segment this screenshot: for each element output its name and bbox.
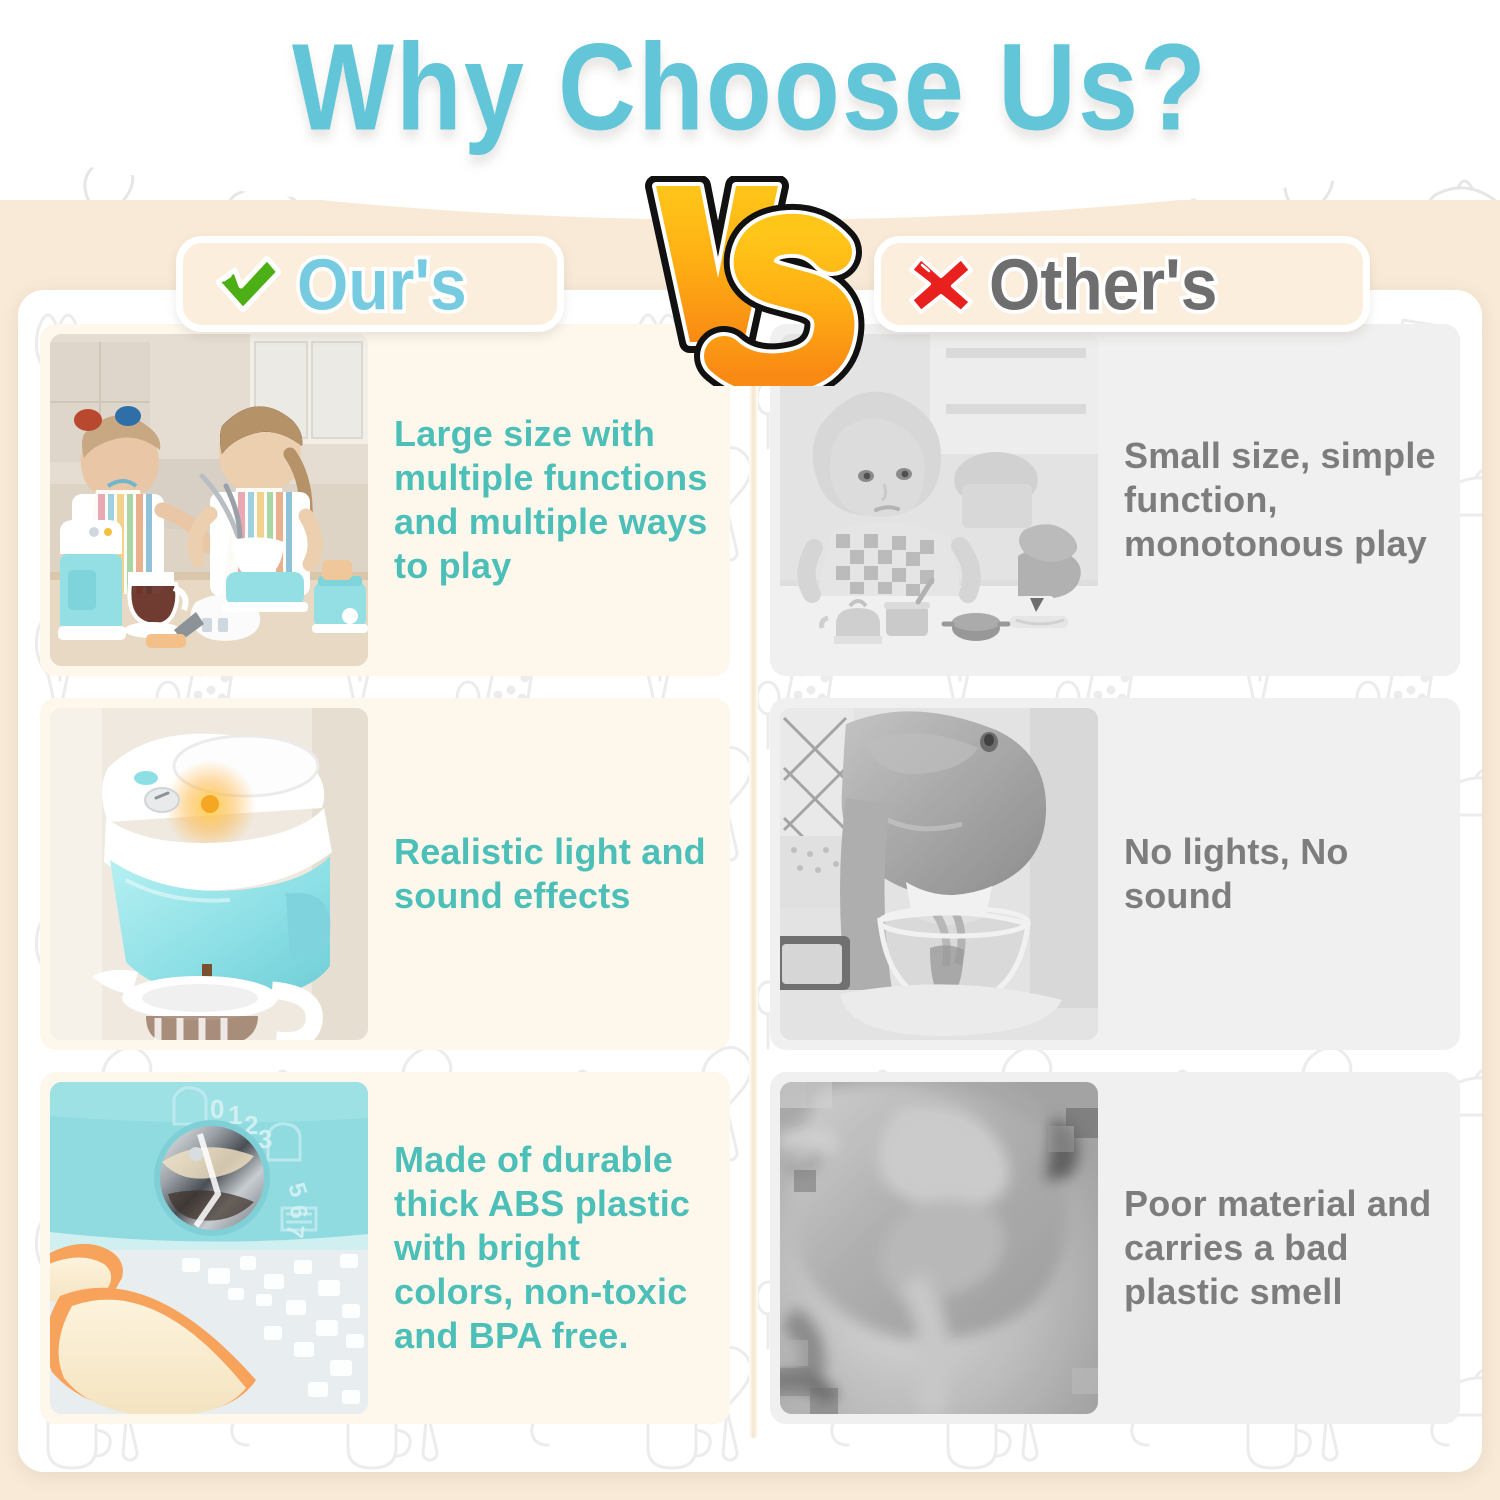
- others-badge-label: Other's: [989, 248, 1217, 321]
- others-column: Small size, simple function, monotonous …: [770, 324, 1460, 1446]
- teal-coffee-maker-toy-with-light-photo: [50, 708, 368, 1040]
- ours-column: Large size with multiple functions and m…: [40, 324, 730, 1446]
- green-check-icon: [209, 252, 283, 316]
- others-row-2-text: No lights, No sound: [1098, 698, 1460, 1050]
- column-divider: [749, 324, 758, 1438]
- ours-row-1: Large size with multiple functions and m…: [40, 324, 730, 676]
- others-header-badge: Other's: [874, 236, 1370, 332]
- ours-badge-label: Our's: [297, 248, 467, 321]
- toaster-dial-closeup-with-toast-photo: 0 1 2 3 5 6 7: [50, 1082, 368, 1414]
- svg-text:0: 0: [210, 1094, 224, 1124]
- vs-versus-icon: [640, 176, 870, 386]
- comparison-panel: Large size with multiple functions and m…: [18, 290, 1482, 1472]
- others-row-1-text: Small size, simple function, monotonous …: [1098, 324, 1460, 676]
- two-girls-playing-kitchen-toys-photo: [50, 334, 368, 666]
- blurry-gray-plastic-photo: [780, 1082, 1098, 1414]
- title-container: Why Choose Us?: [0, 24, 1500, 149]
- gray-mixer-toy-photo: [780, 708, 1098, 1040]
- svg-text:7: 7: [281, 1223, 309, 1239]
- ours-row-3: 0 1 2 3 5 6 7: [40, 1072, 730, 1424]
- page-title: Why Choose Us?: [292, 15, 1208, 158]
- others-row-3: Poor material and carries a bad plastic …: [770, 1072, 1460, 1424]
- ours-row-3-text: Made of durable thick ABS plastic with b…: [368, 1072, 730, 1424]
- others-row-3-text: Poor material and carries a bad plastic …: [1098, 1072, 1460, 1424]
- ours-header-badge: Our's: [176, 236, 564, 332]
- ours-row-2-text: Realistic light and sound effects: [368, 698, 730, 1050]
- others-row-2: No lights, No sound: [770, 698, 1460, 1050]
- svg-text:6: 6: [284, 1204, 312, 1220]
- others-row-1: Small size, simple function, monotonous …: [770, 324, 1460, 676]
- red-cross-icon: [907, 252, 975, 316]
- ours-row-2: Realistic light and sound effects: [40, 698, 730, 1050]
